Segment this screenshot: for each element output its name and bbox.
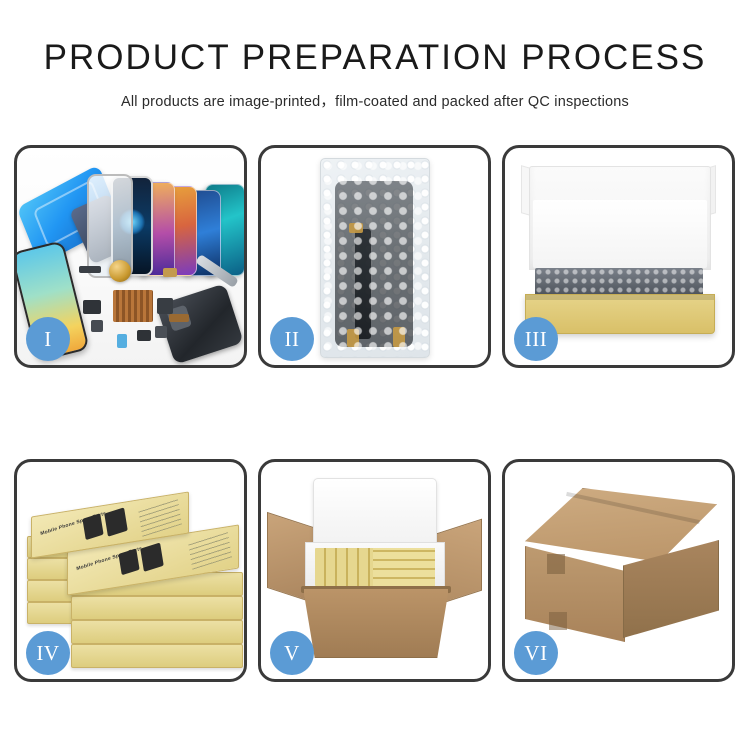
bubble-texture bbox=[321, 159, 429, 357]
page-subtitle: All products are image-printed，film-coat… bbox=[0, 90, 750, 111]
spare-part bbox=[137, 330, 151, 341]
page-title: PRODUCT PREPARATION PROCESS bbox=[0, 38, 750, 78]
step-badge-6: VI bbox=[514, 631, 558, 675]
speaker-component bbox=[109, 260, 131, 282]
foam-lid bbox=[313, 478, 437, 550]
carton-tape-upper bbox=[547, 554, 565, 574]
process-step-4: Mobile Phone Spare Parts Mobile Phone Sp… bbox=[14, 459, 247, 682]
process-step-5: V bbox=[258, 459, 491, 682]
box-print-phone bbox=[140, 542, 164, 571]
box-print-phone bbox=[82, 513, 103, 540]
box-print-phone bbox=[118, 548, 139, 575]
box-print-text-block bbox=[188, 530, 232, 569]
spare-part bbox=[155, 326, 167, 338]
spare-part bbox=[157, 298, 173, 314]
step-badge-1: I bbox=[26, 317, 70, 361]
box-print-text-block bbox=[138, 497, 182, 536]
carton-tape-lower bbox=[549, 612, 567, 630]
foam-sheet bbox=[533, 200, 707, 268]
bubble-wrapped-contents bbox=[535, 268, 703, 296]
carton-body bbox=[303, 588, 449, 658]
step-badge-4: IV bbox=[26, 631, 70, 675]
step-badge-5: V bbox=[270, 631, 314, 675]
stacked-box bbox=[71, 596, 243, 620]
process-step-6: VI bbox=[502, 459, 735, 682]
stacked-box bbox=[71, 620, 243, 644]
spare-part bbox=[117, 334, 127, 348]
box-print-phone bbox=[104, 507, 128, 536]
phone-back-housing bbox=[156, 283, 244, 364]
spare-part bbox=[163, 268, 177, 277]
step-badge-3: III bbox=[514, 317, 558, 361]
carton-front-face bbox=[525, 546, 625, 642]
process-step-2: II bbox=[258, 145, 491, 368]
step-badge-2: II bbox=[270, 317, 314, 361]
process-step-grid: I II bbox=[14, 145, 736, 685]
inner-boxes-secondary bbox=[373, 548, 435, 586]
spare-part bbox=[83, 300, 101, 314]
stacked-box bbox=[71, 644, 243, 668]
product-preparation-infographic: PRODUCT PREPARATION PROCESS All products… bbox=[0, 0, 750, 750]
header: PRODUCT PREPARATION PROCESS All products… bbox=[0, 0, 750, 111]
logic-board bbox=[113, 290, 153, 322]
bubble-wrap-bag bbox=[320, 158, 430, 358]
process-step-1: I bbox=[14, 145, 247, 368]
spare-part bbox=[79, 266, 101, 273]
spare-part bbox=[91, 320, 103, 332]
process-step-3: III bbox=[502, 145, 735, 368]
spare-part bbox=[169, 314, 189, 322]
